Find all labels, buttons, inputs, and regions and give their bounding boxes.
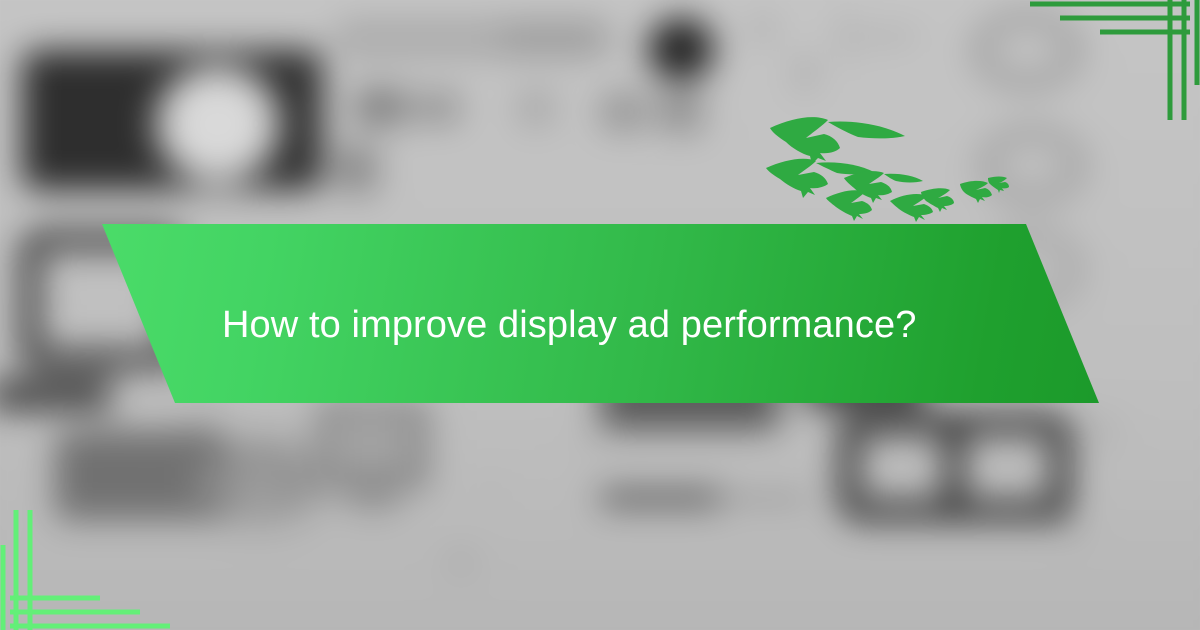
photo-blob-gray-c <box>518 90 554 126</box>
photo-blob-mark-b <box>840 12 852 60</box>
photo-blob-pencil-tip <box>715 495 810 502</box>
photo-blob-gray-e <box>335 145 377 193</box>
photo-blob-pencil <box>600 490 720 506</box>
photo-blob-dot-b <box>1055 515 1081 537</box>
share-card-canvas: How to improve display ad performance? <box>0 0 1200 630</box>
photo-blob-gray-a <box>353 88 408 126</box>
photo-blob-dark-sphere <box>648 18 714 80</box>
photo-blob-lens-inner <box>175 82 261 166</box>
corner-lines-bottom-left-icon <box>0 510 170 630</box>
photo-blob-mark-a <box>750 15 776 41</box>
photo-blob-stand-inner <box>330 415 410 470</box>
photo-blob-gray-b <box>415 94 460 122</box>
photo-blob-mark-c <box>860 30 918 42</box>
photo-blob-dot-c <box>1082 415 1116 445</box>
photo-blob-dot-a <box>450 550 472 572</box>
photo-blob-dark-strip <box>0 380 110 410</box>
photo-blob-glasses-bridge <box>945 415 963 520</box>
photo-blob-stand-base <box>348 488 398 510</box>
corner-lines-top-right-icon <box>1030 0 1200 120</box>
photo-blob-mark-d <box>796 56 814 90</box>
photo-blob-gray-d <box>660 90 702 132</box>
photo-blob-dot-e <box>480 480 502 496</box>
photo-blob-light-bar-2 <box>500 22 610 54</box>
flying-birds-flock-icon <box>762 106 1012 228</box>
photo-blob-dot-d <box>580 430 602 452</box>
photo-blob-small-box-a <box>197 465 233 503</box>
photo-blob-orange-accent <box>600 93 648 131</box>
photo-blob-small-box-b <box>235 465 285 510</box>
page-title: How to improve display ad performance? <box>222 304 1042 348</box>
